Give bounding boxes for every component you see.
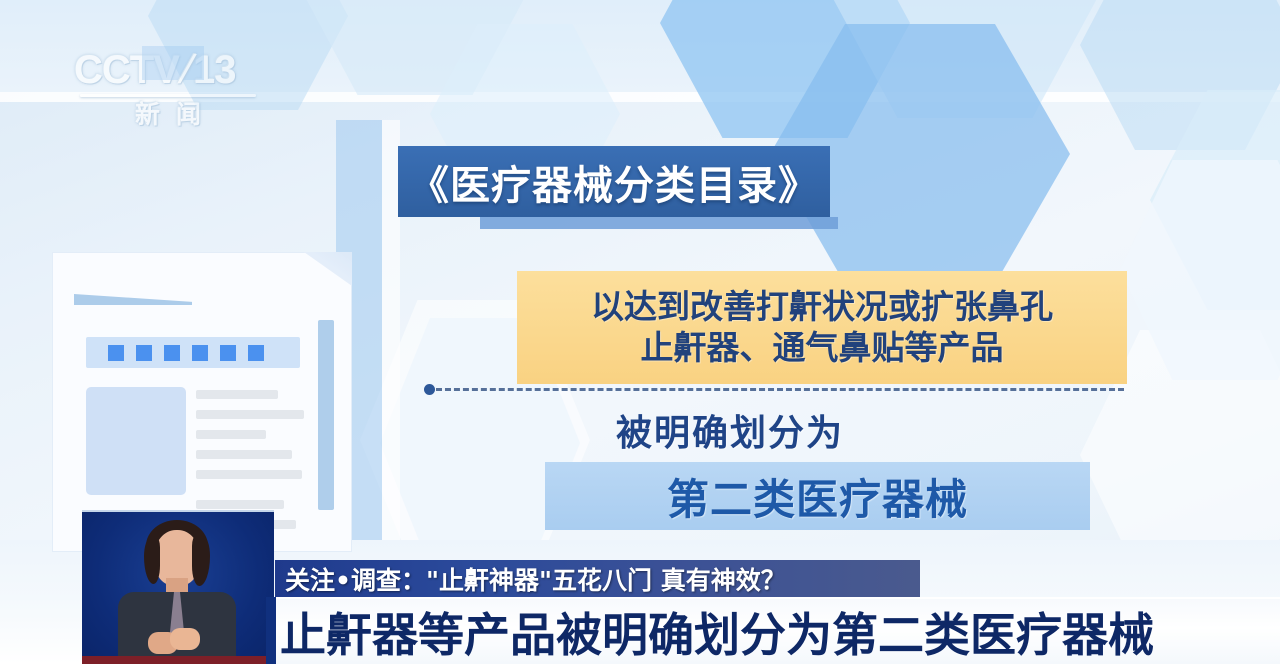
document-header-square [164, 345, 180, 361]
hexagon-shape [1150, 90, 1280, 310]
document-header-square [220, 345, 236, 361]
document-header-square [136, 345, 152, 361]
document-header-bar [86, 337, 300, 368]
logo-subtitle: 新闻 [74, 95, 264, 131]
sign-language-interpreter-inset [82, 510, 274, 664]
hexagon-shape [1120, 160, 1280, 380]
headline-text: 关注•调查："止鼾神器"五花八门 真有神效？ [285, 561, 786, 597]
interpreter-hair-left [144, 538, 160, 584]
conclusion-intro-row: 被明确划分为 [0, 404, 1280, 456]
conclusion-highlight-text: 第二类医疗器械 [545, 462, 1090, 530]
cctv13-logo: CCTV/13 新闻 [74, 48, 264, 138]
logo-underline [80, 94, 256, 97]
document-header-square [248, 345, 264, 361]
conclusion-intro-text: 被明确划分为 [616, 413, 844, 454]
dashed-divider [424, 383, 1124, 395]
document-text-line [196, 470, 302, 479]
document-header-square [108, 345, 124, 361]
interpreter-hand-right [170, 628, 200, 650]
broadcast-screen: CCTV/13 新闻 《医疗器械分类目录》 以达到改善打鼾状 [0, 0, 1280, 664]
slide-title-text: 《医疗器械分类目录》 [409, 153, 819, 211]
interpreter-desk [82, 656, 274, 664]
document-illustration [52, 252, 352, 552]
document-text-line [196, 390, 278, 399]
title-bar-shadow [480, 217, 838, 229]
hexagon-shape [1080, 0, 1280, 150]
divider-dot-icon [424, 384, 435, 395]
slide-title-bar: 《医疗器械分类目录》 [398, 146, 830, 217]
yellow-callout-box: 以达到改善打鼾状况或扩张鼻孔 止鼾器、通气鼻贴等产品 [517, 271, 1127, 384]
document-header-square [192, 345, 208, 361]
ticker-text: 止鼾器等产品被明确划分为第二类医疗器械 [280, 599, 1154, 664]
hexagon-shape [660, 0, 910, 138]
callout-line-2: 止鼾器、通气鼻贴等产品 [641, 328, 1004, 368]
divider-dashed-line [436, 388, 1124, 391]
document-text-line [196, 500, 284, 509]
headline-banner: 关注•调查："止鼾神器"五花八门 真有神效？ [275, 560, 920, 597]
ticker-banner: 止鼾器等产品被明确划分为第二类医疗器械 [276, 597, 1280, 664]
hexagon-shape [830, 0, 1100, 118]
hexagon-shape [300, 0, 530, 95]
ticker-left-strip [266, 597, 276, 664]
callout-line-1: 以达到改善打鼾状况或扩张鼻孔 [591, 287, 1053, 327]
